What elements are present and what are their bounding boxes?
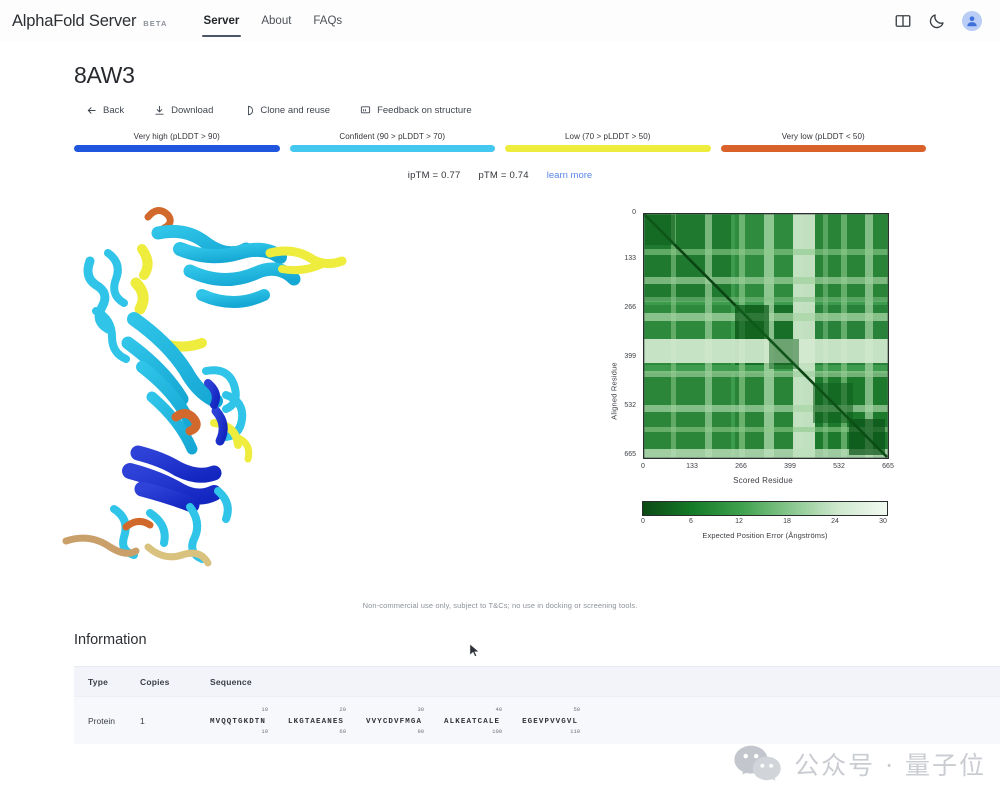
pae-x-axis-label: Scored Residue bbox=[643, 476, 883, 485]
page-body: 8AW3 Back Download Clone and reuse bbox=[0, 62, 1000, 744]
usage-disclaimer: Non-commercial use only, subject to T&Cs… bbox=[0, 601, 1000, 610]
pae-ytick-532: 532 bbox=[610, 402, 636, 409]
pae-colorbar-label: Expected Position Error (Ångströms) bbox=[642, 531, 888, 540]
cbar-tick-12: 12 bbox=[729, 518, 749, 525]
sequence-block: 10 MVQQTGKDTN 10 bbox=[210, 715, 266, 726]
clone-and-reuse-button[interactable]: Clone and reuse bbox=[243, 105, 330, 116]
sequence-number-top: 40 bbox=[495, 706, 502, 713]
sequence-chars: LKGTAEANES bbox=[288, 718, 344, 726]
plddt-legend-confident: Confident (90 > pLDDT > 70) bbox=[290, 132, 496, 152]
plddt-legend: Very high (pLDDT > 90) Confident (90 > p… bbox=[74, 132, 926, 152]
brand-logo[interactable]: AlphaFold Server BETA bbox=[12, 12, 168, 31]
table-header-row: Type Copies Sequence bbox=[74, 666, 1000, 696]
sequence-block: 40 ALKEATCALE 100 bbox=[444, 715, 500, 726]
sequence-number-top: 30 bbox=[417, 706, 424, 713]
tab-about-label: About bbox=[261, 15, 291, 27]
cell-sequence: 10 MVQQTGKDTN 10 20 LKGTAEANES 60 30 VVY… bbox=[210, 715, 1000, 726]
dark-mode-moon-icon[interactable] bbox=[928, 12, 946, 30]
plddt-confident-label: Confident (90 > pLDDT > 70) bbox=[290, 132, 496, 141]
cbar-tick-24: 24 bbox=[825, 518, 845, 525]
feedback-icon bbox=[360, 105, 371, 116]
plddt-legend-very-high: Very high (pLDDT > 90) bbox=[74, 132, 280, 152]
sequence-chars: ALKEATCALE bbox=[444, 718, 500, 726]
cell-type: Protein bbox=[74, 716, 140, 726]
tab-about[interactable]: About bbox=[261, 0, 291, 42]
learn-more-link[interactable]: learn more bbox=[547, 170, 592, 181]
structure-actions: Back Download Clone and reuse Feedback o… bbox=[86, 105, 1000, 116]
information-section: Information Type Copies Sequence Protein… bbox=[0, 632, 1000, 744]
pae-ytick-0: 0 bbox=[610, 209, 636, 216]
pae-xtick-266: 266 bbox=[728, 463, 754, 470]
pae-panel: Aligned Residue bbox=[600, 191, 1000, 591]
plddt-low-bar bbox=[505, 145, 711, 152]
arrow-left-icon bbox=[86, 105, 97, 116]
brand-name: AlphaFold Server bbox=[12, 12, 136, 31]
pae-ytick-399: 399 bbox=[610, 353, 636, 360]
plddt-legend-low: Low (70 > pLDDT > 50) bbox=[505, 132, 711, 152]
main-nav: Server About FAQs bbox=[204, 0, 343, 42]
back-button-label: Back bbox=[103, 105, 124, 116]
download-button[interactable]: Download bbox=[154, 105, 213, 116]
book-icon[interactable] bbox=[894, 12, 912, 30]
back-button[interactable]: Back bbox=[86, 105, 124, 116]
pae-xtick-133: 133 bbox=[679, 463, 705, 470]
watermark-text: 公众号 · 量子位 bbox=[794, 746, 986, 782]
pae-ytick-665: 665 bbox=[610, 451, 636, 458]
pae-heatmap[interactable] bbox=[643, 213, 889, 459]
pae-colorbar: 0 6 12 18 24 30 Expected Position Error … bbox=[642, 501, 888, 540]
beta-badge: BETA bbox=[143, 19, 167, 28]
pae-xtick-665: 665 bbox=[875, 463, 901, 470]
cell-copies: 1 bbox=[140, 716, 210, 726]
cbar-tick-30: 30 bbox=[873, 518, 893, 525]
pae-y-axis-label: Aligned Residue bbox=[610, 362, 619, 420]
tab-server-label: Server bbox=[204, 15, 240, 27]
pae-xtick-399: 399 bbox=[777, 463, 803, 470]
iptm-score: ipTM = 0.77 bbox=[408, 170, 461, 181]
table-row[interactable]: Protein 1 10 MVQQTGKDTN 10 20 LKGTAEANES… bbox=[74, 696, 1000, 744]
plddt-very-low-bar bbox=[721, 145, 927, 152]
pae-ytick-266: 266 bbox=[610, 304, 636, 311]
information-table: Type Copies Sequence Protein 1 10 MVQQTG… bbox=[74, 666, 1000, 744]
feedback-on-structure-button[interactable]: Feedback on structure bbox=[360, 105, 472, 116]
sequence-block: 50 EGEVPVVGVL 110 bbox=[522, 715, 578, 726]
download-button-label: Download bbox=[171, 105, 213, 116]
wechat-logo-icon bbox=[730, 743, 786, 785]
sequence-number-bottom: 90 bbox=[417, 728, 424, 735]
plddt-very-high-bar bbox=[74, 145, 280, 152]
information-title: Information bbox=[74, 632, 1000, 648]
top-bar-actions bbox=[894, 11, 982, 31]
page-bottom-edge bbox=[0, 791, 1000, 799]
sequence-block: 20 LKGTAEANES 60 bbox=[288, 715, 344, 726]
clone-icon bbox=[243, 105, 254, 116]
pae-ytick-133: 133 bbox=[610, 255, 636, 262]
feedback-on-structure-label: Feedback on structure bbox=[377, 105, 472, 116]
protein-ribbon-3d[interactable] bbox=[30, 191, 360, 571]
pae-xtick-0: 0 bbox=[630, 463, 656, 470]
plddt-very-low-label: Very low (pLDDT < 50) bbox=[721, 132, 927, 141]
tab-server[interactable]: Server bbox=[204, 0, 240, 42]
ptm-score: pTM = 0.74 bbox=[478, 170, 528, 181]
cbar-tick-0: 0 bbox=[633, 518, 653, 525]
avatar[interactable] bbox=[962, 11, 982, 31]
clone-and-reuse-label: Clone and reuse bbox=[260, 105, 330, 116]
sequence-number-bottom: 10 bbox=[261, 728, 268, 735]
sequence-block: 30 VVYCDVFMGA 90 bbox=[366, 715, 422, 726]
sequence-number-bottom: 60 bbox=[339, 728, 346, 735]
structure-viewer[interactable] bbox=[0, 191, 600, 591]
sequence-number-top: 20 bbox=[339, 706, 346, 713]
wechat-watermark: 公众号 · 量子位 bbox=[730, 743, 986, 785]
sequence-chars: VVYCDVFMGA bbox=[366, 718, 422, 726]
tab-faqs-label: FAQs bbox=[313, 15, 342, 27]
sequence-number-bottom: 110 bbox=[570, 728, 580, 735]
sequence-number-top: 50 bbox=[573, 706, 580, 713]
cbar-tick-6: 6 bbox=[681, 518, 701, 525]
cbar-tick-18: 18 bbox=[777, 518, 797, 525]
plddt-legend-very-low: Very low (pLDDT < 50) bbox=[721, 132, 927, 152]
plddt-low-label: Low (70 > pLDDT > 50) bbox=[505, 132, 711, 141]
alphafold-server-app: AlphaFold Server BETA Server About FAQs bbox=[0, 0, 1000, 799]
page-title: 8AW3 bbox=[74, 62, 1000, 89]
column-header-type: Type bbox=[74, 677, 140, 687]
column-header-sequence: Sequence bbox=[210, 677, 1000, 687]
sequence-number-top: 10 bbox=[261, 706, 268, 713]
top-navigation-bar: AlphaFold Server BETA Server About FAQs bbox=[0, 0, 1000, 42]
tab-faqs[interactable]: FAQs bbox=[313, 0, 342, 42]
sequence-chars: MVQQTGKDTN bbox=[210, 718, 266, 726]
sequence-number-bottom: 100 bbox=[492, 728, 502, 735]
pae-colorbar-gradient bbox=[642, 501, 888, 516]
visualization-area: Aligned Residue bbox=[0, 191, 1000, 591]
plddt-confident-bar bbox=[290, 145, 496, 152]
download-icon bbox=[154, 105, 165, 116]
confidence-scores: ipTM = 0.77 pTM = 0.74 learn more bbox=[0, 170, 1000, 181]
plddt-very-high-label: Very high (pLDDT > 90) bbox=[74, 132, 280, 141]
pae-colorbar-ticks: 0 6 12 18 24 30 bbox=[642, 518, 888, 530]
sequence-chars: EGEVPVVGVL bbox=[522, 718, 578, 726]
column-header-copies: Copies bbox=[140, 677, 210, 687]
pae-xtick-532: 532 bbox=[826, 463, 852, 470]
